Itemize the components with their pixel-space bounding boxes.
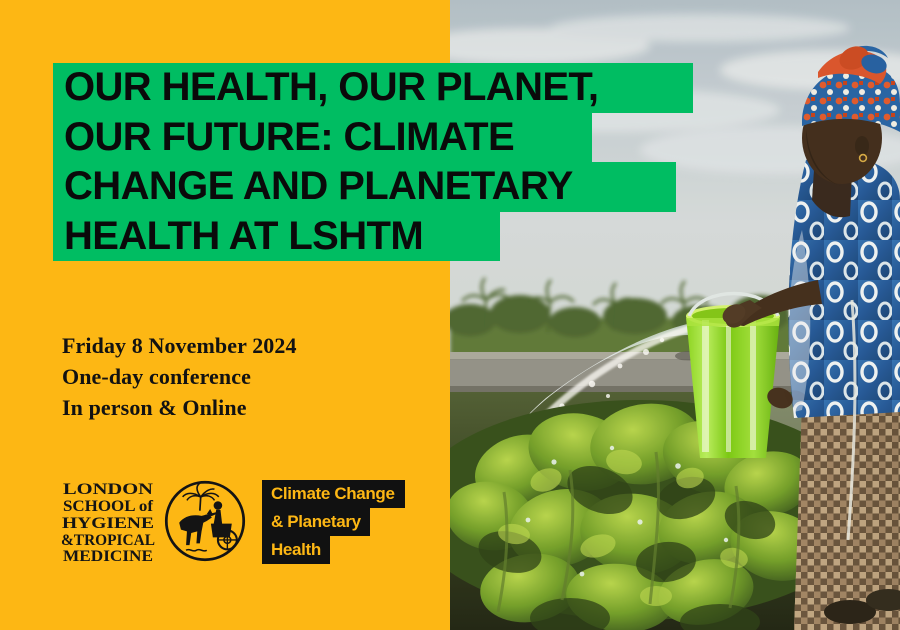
- wordmark-line-5: MEDICINE: [63, 548, 153, 563]
- badge-line-2: & Planetary: [262, 508, 370, 536]
- climate-change-planetary-health-badge: Climate Change & Planetary Health: [262, 478, 405, 564]
- wordmark-line-2: SCHOOL of: [63, 498, 154, 515]
- title-line-2: OUR FUTURE: CLIMATE: [53, 113, 592, 163]
- title-line-4: HEALTH AT LSHTM: [53, 212, 500, 262]
- badge-line-3: Health: [262, 536, 330, 564]
- title-line-1: OUR HEALTH, OUR PLANET,: [53, 63, 693, 113]
- event-format: One-day conference: [62, 361, 297, 392]
- wordmark-line-1: LONDON: [63, 481, 153, 498]
- event-attendance: In person & Online: [62, 392, 297, 423]
- event-date: Friday 8 November 2024: [62, 330, 297, 361]
- badge-line-1: Climate Change: [262, 480, 405, 508]
- title-line-3: CHANGE AND PLANETARY: [53, 162, 676, 212]
- logo-lockup: LONDON SCHOOL of HYGIENE &TROPICAL MEDIC…: [60, 478, 405, 564]
- wordmark-line-3: HYGIENE: [62, 515, 154, 532]
- event-details: Friday 8 November 2024 One-day conferenc…: [62, 330, 297, 423]
- lshtm-crest-seal-icon: [162, 478, 248, 564]
- page-title: OUR HEALTH, OUR PLANET, OUR FUTURE: CLIM…: [53, 63, 753, 261]
- wordmark-line-4: &TROPICAL: [61, 532, 155, 549]
- lshtm-wordmark: LONDON SCHOOL of HYGIENE &TROPICAL MEDIC…: [60, 479, 156, 563]
- conference-poster: OUR HEALTH, OUR PLANET, OUR FUTURE: CLIM…: [0, 0, 900, 630]
